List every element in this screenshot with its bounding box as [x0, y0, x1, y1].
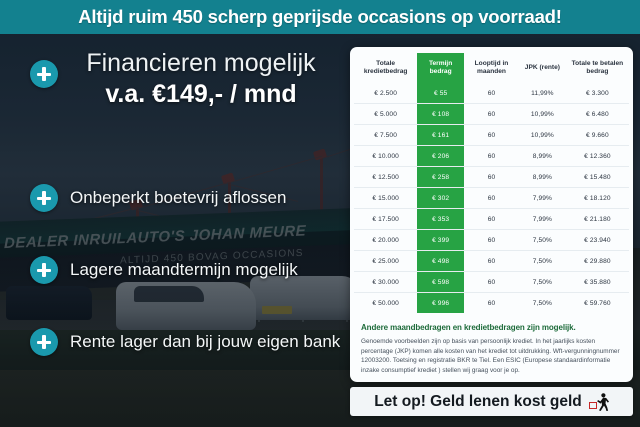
cell-jkp: 8,99% [519, 146, 566, 167]
plus-icon [30, 328, 58, 356]
cell-jkp: 11,99% [519, 83, 566, 104]
column-header-termijn: Termijn bedrag [417, 53, 464, 83]
disclaimer-title: Andere maandbedragen en kredietbedragen … [361, 323, 622, 332]
plus-icon [30, 60, 58, 88]
feature-item-lagere-rente: Rente lager dan bij jouw eigen bank [30, 328, 340, 356]
disclaimer-body: Genoemde voorbeelden zijn op basis van p… [361, 337, 622, 375]
top-banner: Altijd ruim 450 scherp geprijsde occasio… [0, 0, 640, 34]
headline-line-1: Financieren mogelijk [56, 48, 346, 78]
cell-looptijd: 60 [464, 272, 519, 293]
cell-termijn: € 598 [417, 272, 464, 293]
feature-item-onbeperkt-aflossen: Onbeperkt boetevrij aflossen [30, 184, 286, 212]
table-row: € 25.000€ 498607,50%€ 29.880 [354, 251, 629, 272]
cell-looptijd: 60 [464, 104, 519, 125]
feature-item-lagere-maandtermijn: Lagere maandtermijn mogelijk [30, 256, 298, 284]
cell-totaal: € 23.940 [566, 230, 629, 251]
feature-label: Onbeperkt boetevrij aflossen [70, 188, 286, 208]
table-header-row: Totale kredietbedrag Termijn bedrag Loop… [354, 53, 629, 83]
table-row: € 12.500€ 258608,99%€ 15.480 [354, 167, 629, 188]
table-row: € 7.500€ 1616010,99%€ 9.660 [354, 125, 629, 146]
cell-looptijd: 60 [464, 230, 519, 251]
cell-krediet: € 30.000 [354, 272, 417, 293]
cell-looptijd: 60 [464, 167, 519, 188]
cell-jkp: 7,50% [519, 272, 566, 293]
cell-jkp: 7,99% [519, 188, 566, 209]
headline-plus-bullet [30, 60, 58, 88]
cell-totaal: € 29.880 [566, 251, 629, 272]
plus-icon [30, 256, 58, 284]
cell-totaal: € 21.180 [566, 209, 629, 230]
cell-termijn: € 161 [417, 125, 464, 146]
credit-rates-table: Totale kredietbedrag Termijn bedrag Loop… [354, 53, 629, 313]
cell-totaal: € 59.760 [566, 293, 629, 314]
cell-jkp: 7,50% [519, 293, 566, 314]
cell-jkp: 10,99% [519, 104, 566, 125]
warning-text: Let op! Geld lenen kost geld [374, 393, 582, 411]
column-header-jkp: JPK (rente) [519, 53, 566, 83]
cell-looptijd: 60 [464, 83, 519, 104]
cell-krediet: € 15.000 [354, 188, 417, 209]
cell-totaal: € 3.300 [566, 83, 629, 104]
feature-label: Rente lager dan bij jouw eigen bank [70, 332, 340, 352]
cell-termijn: € 55 [417, 83, 464, 104]
cell-krediet: € 20.000 [354, 230, 417, 251]
cell-totaal: € 35.880 [566, 272, 629, 293]
cell-looptijd: 60 [464, 293, 519, 314]
page-title: Financieren mogelijk v.a. €149,- / mnd [56, 48, 346, 110]
cell-termijn: € 353 [417, 209, 464, 230]
cell-looptijd: 60 [464, 188, 519, 209]
table-row: € 2.500€ 556011,99%€ 3.300 [354, 83, 629, 104]
cell-krediet: € 2.500 [354, 83, 417, 104]
walking-man-icon [589, 393, 609, 411]
table-wrapper: Totale kredietbedrag Termijn bedrag Loop… [350, 47, 633, 313]
left-content-column: Financieren mogelijk v.a. €149,- / mnd O… [0, 34, 348, 427]
cell-looptijd: 60 [464, 146, 519, 167]
cell-termijn: € 996 [417, 293, 464, 314]
column-header-totaal: Totale te betalen bedrag [566, 53, 629, 83]
cell-jkp: 7,99% [519, 209, 566, 230]
cell-jkp: 7,50% [519, 251, 566, 272]
credit-table-card: Totale kredietbedrag Termijn bedrag Loop… [350, 47, 633, 382]
table-row: € 50.000€ 996607,50%€ 59.760 [354, 293, 629, 314]
cell-totaal: € 6.480 [566, 104, 629, 125]
table-row: € 5.000€ 1086010,99%€ 6.480 [354, 104, 629, 125]
cell-krediet: € 50.000 [354, 293, 417, 314]
disclaimer-section: Andere maandbedragen en kredietbedragen … [350, 313, 633, 375]
cell-krediet: € 12.500 [354, 167, 417, 188]
cell-krediet: € 7.500 [354, 125, 417, 146]
table-body: € 2.500€ 556011,99%€ 3.300€ 5.000€ 10860… [354, 83, 629, 313]
cell-termijn: € 399 [417, 230, 464, 251]
cell-krediet: € 17.500 [354, 209, 417, 230]
cell-totaal: € 12.360 [566, 146, 629, 167]
cell-looptijd: 60 [464, 125, 519, 146]
banner-headline: Altijd ruim 450 scherp geprijsde occasio… [78, 6, 562, 28]
cell-termijn: € 258 [417, 167, 464, 188]
table-row: € 10.000€ 206608,99%€ 12.360 [354, 146, 629, 167]
cell-jkp: 10,99% [519, 125, 566, 146]
cell-termijn: € 206 [417, 146, 464, 167]
table-row: € 17.500€ 353607,99%€ 21.180 [354, 209, 629, 230]
cell-krediet: € 5.000 [354, 104, 417, 125]
feature-label: Lagere maandtermijn mogelijk [70, 260, 298, 280]
table-row: € 30.000€ 598607,50%€ 35.880 [354, 272, 629, 293]
cell-looptijd: 60 [464, 251, 519, 272]
cell-totaal: € 9.660 [566, 125, 629, 146]
advertisement-banner: DEALER INRUILAUTO'S JOHAN MEURE ALTIJD 4… [0, 0, 640, 427]
cell-termijn: € 302 [417, 188, 464, 209]
cell-krediet: € 10.000 [354, 146, 417, 167]
walking-man-figure [595, 393, 609, 411]
cell-termijn: € 108 [417, 104, 464, 125]
table-row: € 15.000€ 302607,99%€ 18.120 [354, 188, 629, 209]
cell-jkp: 7,50% [519, 230, 566, 251]
column-header-krediet: Totale kredietbedrag [354, 53, 417, 83]
cell-totaal: € 15.480 [566, 167, 629, 188]
cell-krediet: € 25.000 [354, 251, 417, 272]
plus-icon [30, 184, 58, 212]
column-header-looptijd: Looptijd in maanden [464, 53, 519, 83]
cell-totaal: € 18.120 [566, 188, 629, 209]
table-row: € 20.000€ 399607,50%€ 23.940 [354, 230, 629, 251]
credit-warning-bar: Let op! Geld lenen kost geld [350, 387, 633, 416]
cell-termijn: € 498 [417, 251, 464, 272]
headline-line-2: v.a. €149,- / mnd [56, 78, 346, 110]
cell-jkp: 8,99% [519, 167, 566, 188]
cell-looptijd: 60 [464, 209, 519, 230]
